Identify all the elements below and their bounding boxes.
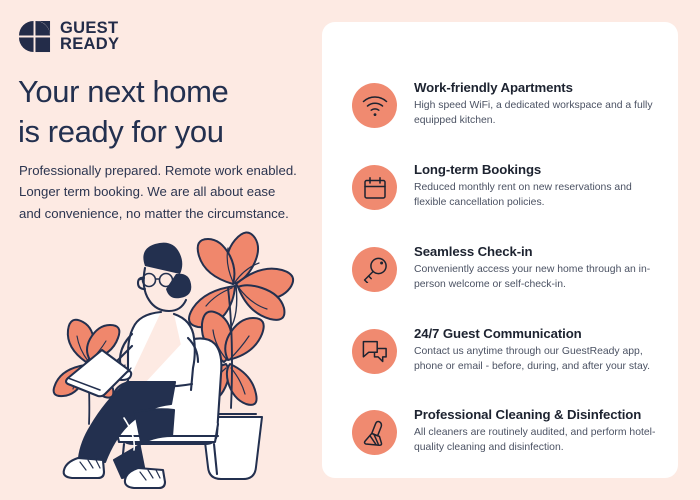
headline-line-2: is ready for you [18,112,318,152]
calendar-icon [363,176,387,200]
feature-icon-badge [352,247,397,292]
feature-title: Professional Cleaning & Disinfection [414,407,658,423]
brand-logo[interactable]: GUEST READY [18,20,119,53]
hero-column: GUEST READY Your next home is ready for … [0,0,322,500]
brand-name-line2: READY [60,37,119,53]
feature-description: High speed WiFi, a dedicated workspace a… [414,99,658,129]
feature-text: Work-friendly Apartments High speed WiFi… [397,80,658,128]
hero-subcopy: Professionally prepared. Remote work ena… [19,160,297,224]
feature-description: Contact us anytime through our GuestRead… [414,345,658,375]
guestready-quadrant-logo-icon [18,20,51,53]
feature-text: Long-term Bookings Reduced monthly rent … [397,162,658,210]
wifi-icon [362,95,388,117]
feature-title: 24/7 Guest Communication [414,326,658,342]
marketing-page: GUEST READY Your next home is ready for … [0,0,700,500]
brand-name: GUEST READY [60,21,119,53]
list-item[interactable]: Seamless Check-in Conveniently access yo… [352,244,658,292]
broom-icon [362,420,388,446]
features-panel: Work-friendly Apartments High speed WiFi… [322,22,678,478]
list-item[interactable]: Professional Cleaning & Disinfection All… [352,407,658,455]
feature-title: Work-friendly Apartments [414,80,658,96]
feature-icon-badge [352,165,397,210]
list-item[interactable]: Work-friendly Apartments High speed WiFi… [352,80,658,128]
hero-illustration [28,222,318,492]
feature-icon-badge [352,329,397,374]
feature-text: Professional Cleaning & Disinfection All… [397,407,658,455]
feature-icon-badge [352,83,397,128]
list-item[interactable]: Long-term Bookings Reduced monthly rent … [352,162,658,210]
list-item[interactable]: 24/7 Guest Communication Contact us anyt… [352,326,658,374]
chat-bubbles-icon [362,340,388,364]
feature-text: Seamless Check-in Conveniently access yo… [397,244,658,292]
headline-line-1: Your next home [18,72,318,112]
feature-description: Reduced monthly rent on new reservations… [414,181,658,211]
page-title: Your next home is ready for you [18,72,318,151]
feature-description: Conveniently access your new home throug… [414,263,658,293]
feature-text: 24/7 Guest Communication Contact us anyt… [397,326,658,374]
feature-title: Seamless Check-in [414,244,658,260]
feature-title: Long-term Bookings [414,162,658,178]
feature-icon-badge [352,410,397,455]
key-icon [362,257,388,283]
feature-description: All cleaners are routinely audited, and … [414,426,658,456]
